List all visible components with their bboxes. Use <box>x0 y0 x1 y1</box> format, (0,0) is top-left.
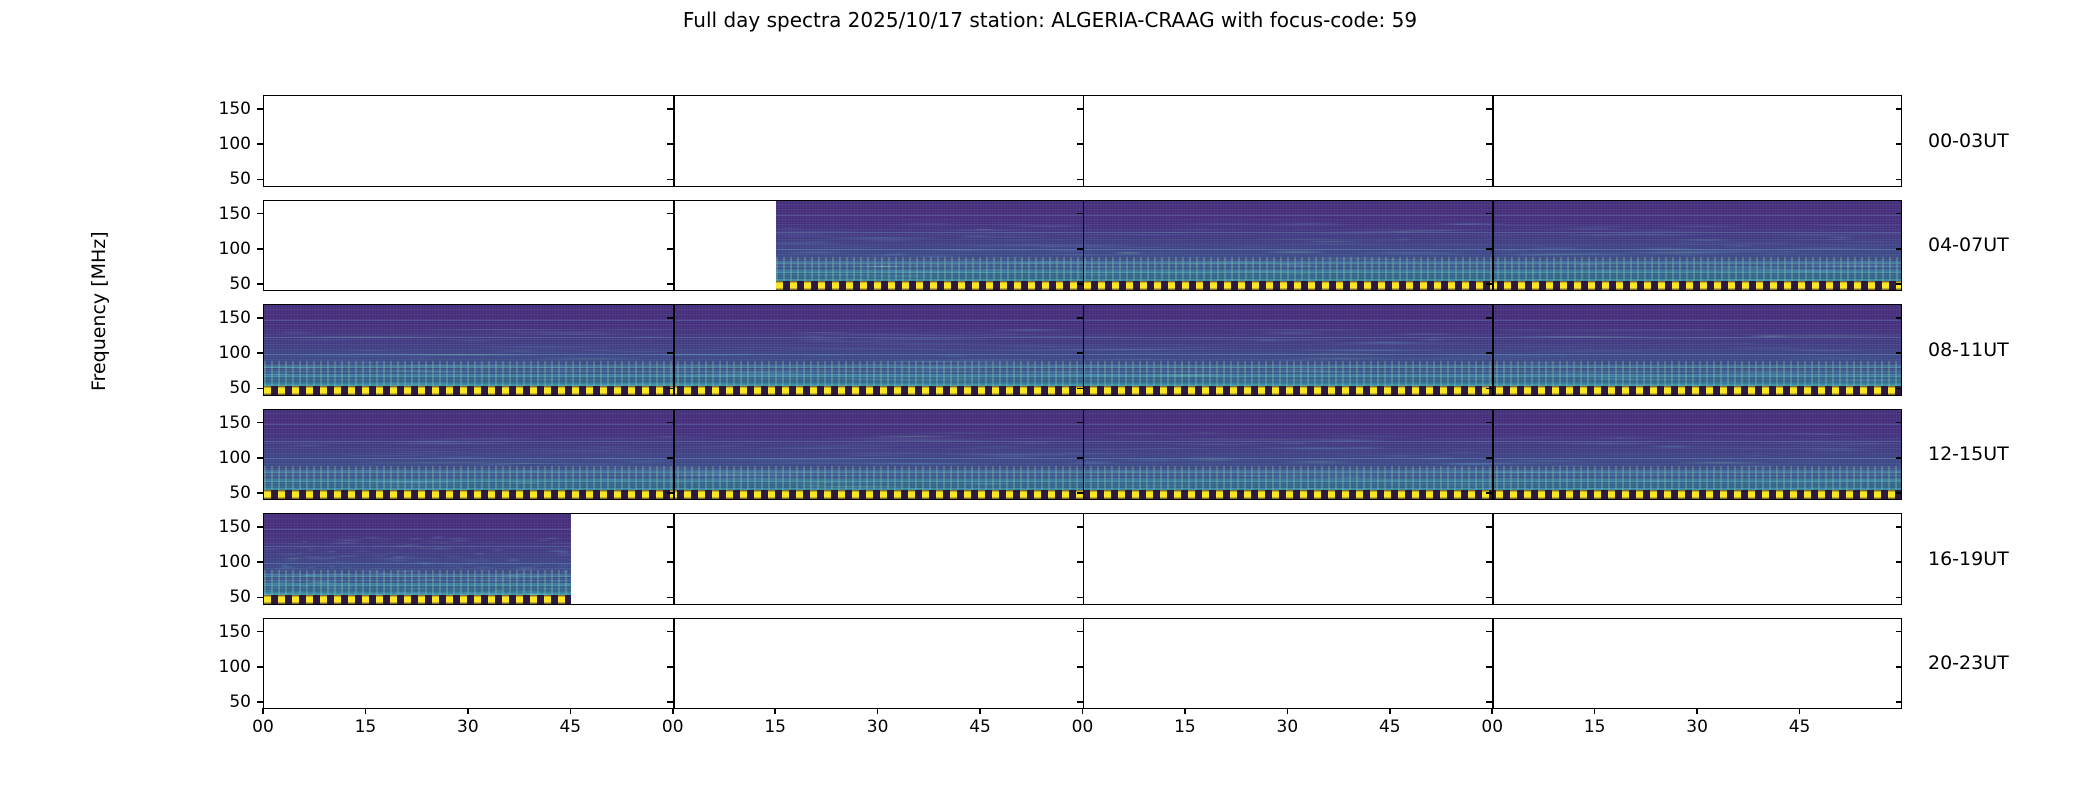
y-tick <box>257 248 264 250</box>
y-tick-inner <box>667 283 673 285</box>
x-tick-label: 45 <box>1379 717 1401 737</box>
y-tick-inner <box>1077 213 1083 215</box>
y-tick <box>257 526 264 528</box>
x-tick <box>1491 708 1493 714</box>
y-tick-inner <box>1896 457 1902 459</box>
y-tick-inner <box>1486 248 1492 250</box>
y-tick-inner <box>1896 561 1902 563</box>
y-tick-inner <box>667 352 673 354</box>
y-tick-label: 100 <box>193 657 251 677</box>
y-tick-inner <box>1486 213 1492 215</box>
x-tick <box>1594 708 1596 714</box>
low-frequency-flag-strip <box>264 595 571 604</box>
hour-separator <box>1083 305 1085 395</box>
y-tick-inner <box>1077 317 1083 319</box>
hour-separator <box>673 619 675 709</box>
y-tick-inner <box>1077 143 1083 145</box>
spectrogram-data-block <box>776 201 1902 291</box>
spectrogram-row <box>263 618 1902 710</box>
x-tick <box>262 708 264 714</box>
y-tick-label: 100 <box>193 239 251 259</box>
hour-separator <box>1492 305 1494 395</box>
y-tick-inner <box>1486 388 1492 390</box>
y-tick-label: 100 <box>193 448 251 468</box>
y-tick-inner <box>1077 631 1083 633</box>
x-tick <box>570 708 572 714</box>
y-tick-inner <box>1896 597 1902 599</box>
y-tick-inner <box>667 597 673 599</box>
y-tick-label: 50 <box>193 378 251 398</box>
y-tick-inner <box>1896 526 1902 528</box>
hour-separator <box>1083 96 1085 186</box>
x-tick-label: 15 <box>764 717 786 737</box>
hour-separator <box>673 410 675 500</box>
spectrogram-row <box>263 409 1902 501</box>
y-tick-inner <box>1077 526 1083 528</box>
y-tick-label: 100 <box>193 134 251 154</box>
y-tick-inner <box>1077 561 1083 563</box>
x-tick <box>979 708 981 714</box>
x-tick-label: 00 <box>662 717 684 737</box>
y-tick-label: 100 <box>193 552 251 572</box>
y-tick-inner <box>1077 457 1083 459</box>
hour-separator <box>1492 619 1494 709</box>
x-tick <box>1696 708 1698 714</box>
y-tick-inner <box>1077 422 1083 424</box>
x-tick <box>1799 708 1801 714</box>
y-tick-label: 150 <box>193 308 251 328</box>
x-tick-label: 45 <box>1789 717 1811 737</box>
x-tick-label: 30 <box>457 717 479 737</box>
y-tick <box>257 143 264 145</box>
y-tick-inner <box>667 179 673 181</box>
y-tick-inner <box>667 213 673 215</box>
x-tick <box>877 708 879 714</box>
y-tick-inner <box>1486 492 1492 494</box>
y-tick-inner <box>1486 597 1492 599</box>
y-tick-label: 150 <box>193 517 251 537</box>
y-tick-inner <box>667 457 673 459</box>
y-tick-inner <box>1896 388 1902 390</box>
y-tick <box>257 283 264 285</box>
y-tick-label: 50 <box>193 692 251 712</box>
y-tick-inner <box>1896 248 1902 250</box>
y-tick-inner <box>1486 666 1492 668</box>
y-tick-inner <box>1486 317 1492 319</box>
y-tick-inner <box>1896 666 1902 668</box>
y-tick <box>257 597 264 599</box>
x-tick <box>672 708 674 714</box>
y-tick-inner <box>1486 631 1492 633</box>
y-tick-inner <box>1896 143 1902 145</box>
y-tick-inner <box>667 701 673 703</box>
y-tick-inner <box>667 631 673 633</box>
x-tick-label: 30 <box>867 717 889 737</box>
y-tick-inner <box>1896 352 1902 354</box>
y-tick <box>257 492 264 494</box>
hour-separator <box>1083 619 1085 709</box>
y-tick <box>257 213 264 215</box>
x-tick <box>1389 708 1391 714</box>
y-tick-inner <box>667 492 673 494</box>
spectrogram-row <box>263 304 1902 396</box>
y-axis-label: Frequency [MHz] <box>88 231 110 391</box>
y-tick-inner <box>1486 179 1492 181</box>
row-label-12-15ut: 12-15UT <box>1928 443 2009 465</box>
spectrogram-row <box>263 513 1902 605</box>
y-tick-inner <box>1486 561 1492 563</box>
x-tick-label: 15 <box>355 717 377 737</box>
y-tick-label: 50 <box>193 169 251 189</box>
y-tick-inner <box>1896 631 1902 633</box>
y-tick-inner <box>667 526 673 528</box>
x-tick <box>1287 708 1289 714</box>
x-tick-label: 00 <box>1481 717 1503 737</box>
y-tick-label: 50 <box>193 274 251 294</box>
hour-separator <box>1492 201 1494 291</box>
hour-separator <box>673 514 675 604</box>
y-tick-inner <box>667 248 673 250</box>
y-tick-inner <box>1077 701 1083 703</box>
y-tick-inner <box>1896 422 1902 424</box>
y-tick-inner <box>667 143 673 145</box>
y-tick-inner <box>667 108 673 110</box>
y-tick-label: 100 <box>193 343 251 363</box>
y-tick-label: 150 <box>193 99 251 119</box>
y-tick-inner <box>1077 597 1083 599</box>
y-tick-inner <box>667 317 673 319</box>
spectrogram-figure: Full day spectra 2025/10/17 station: ALG… <box>0 0 2100 800</box>
spectrogram-row <box>263 200 1902 292</box>
x-tick <box>1184 708 1186 714</box>
x-tick <box>1082 708 1084 714</box>
y-tick-label: 50 <box>193 483 251 503</box>
y-tick-inner <box>1486 526 1492 528</box>
low-frequency-flag-strip <box>776 281 1902 290</box>
y-tick-inner <box>667 666 673 668</box>
y-tick-inner <box>1486 352 1492 354</box>
y-tick-inner <box>1896 179 1902 181</box>
y-tick-inner <box>1077 352 1083 354</box>
x-tick-label: 15 <box>1174 717 1196 737</box>
row-label-00-03ut: 00-03UT <box>1928 130 2009 152</box>
x-tick <box>467 708 469 714</box>
spectrogram-row <box>263 95 1902 187</box>
x-tick <box>774 708 776 714</box>
y-tick <box>257 317 264 319</box>
hour-separator <box>1083 201 1085 291</box>
y-tick-inner <box>1077 248 1083 250</box>
x-tick-label: 15 <box>1584 717 1606 737</box>
y-tick-label: 150 <box>193 413 251 433</box>
y-tick-inner <box>667 388 673 390</box>
y-tick-inner <box>1896 492 1902 494</box>
y-tick-inner <box>1077 108 1083 110</box>
hour-separator <box>1492 410 1494 500</box>
row-label-16-19ut: 16-19UT <box>1928 548 2009 570</box>
page-title: Full day spectra 2025/10/17 station: ALG… <box>0 8 2100 32</box>
y-tick <box>257 179 264 181</box>
x-tick-label: 00 <box>1072 717 1094 737</box>
y-tick <box>257 352 264 354</box>
y-tick <box>257 701 264 703</box>
x-tick-label: 30 <box>1686 717 1708 737</box>
y-tick <box>257 457 264 459</box>
y-tick <box>257 388 264 390</box>
hour-separator <box>1492 514 1494 604</box>
y-tick-inner <box>1077 492 1083 494</box>
hour-separator <box>673 201 675 291</box>
row-label-04-07ut: 04-07UT <box>1928 234 2009 256</box>
y-tick-inner <box>1486 701 1492 703</box>
y-tick-inner <box>1077 179 1083 181</box>
y-tick-label: 150 <box>193 622 251 642</box>
hour-separator <box>673 305 675 395</box>
y-tick-inner <box>1486 457 1492 459</box>
x-tick-label: 30 <box>1277 717 1299 737</box>
hour-separator <box>1492 96 1494 186</box>
spectrogram-data-block <box>264 514 571 604</box>
x-tick-label: 45 <box>559 717 581 737</box>
y-tick <box>257 631 264 633</box>
hour-separator <box>1083 514 1085 604</box>
y-tick-inner <box>1896 213 1902 215</box>
y-tick-inner <box>667 561 673 563</box>
y-tick-inner <box>1896 283 1902 285</box>
row-label-20-23ut: 20-23UT <box>1928 652 2009 674</box>
hour-separator <box>1083 410 1085 500</box>
y-tick-inner <box>1896 108 1902 110</box>
y-tick-inner <box>1077 283 1083 285</box>
y-tick-inner <box>667 422 673 424</box>
y-tick <box>257 108 264 110</box>
y-tick-inner <box>1077 666 1083 668</box>
y-tick <box>257 422 264 424</box>
y-tick-inner <box>1486 108 1492 110</box>
x-tick-label: 00 <box>252 717 274 737</box>
x-tick-label: 45 <box>969 717 991 737</box>
y-tick-inner <box>1896 317 1902 319</box>
y-tick-inner <box>1896 701 1902 703</box>
row-label-08-11ut: 08-11UT <box>1928 339 2009 361</box>
hour-separator <box>673 96 675 186</box>
y-tick-label: 150 <box>193 204 251 224</box>
y-tick-inner <box>1486 283 1492 285</box>
y-tick-label: 50 <box>193 587 251 607</box>
x-tick <box>365 708 367 714</box>
y-tick <box>257 561 264 563</box>
y-tick-inner <box>1486 143 1492 145</box>
y-tick-inner <box>1486 422 1492 424</box>
y-tick <box>257 666 264 668</box>
y-tick-inner <box>1077 388 1083 390</box>
